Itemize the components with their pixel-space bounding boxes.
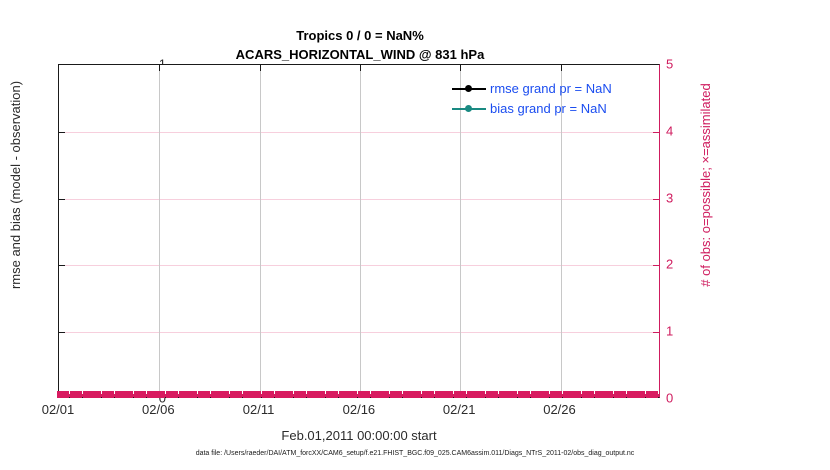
obs-count-marker bbox=[166, 391, 172, 398]
obs-count-marker bbox=[134, 391, 140, 398]
obs-count-marker bbox=[575, 391, 581, 398]
data-file-footer: data file: /Users/raeder/DAI/ATM_forcXX/… bbox=[0, 450, 830, 457]
obs-count-marker bbox=[633, 391, 639, 398]
obs-count-marker bbox=[127, 391, 133, 398]
obs-count-marker bbox=[505, 391, 511, 398]
obs-count-marker bbox=[563, 391, 569, 398]
legend-label-bias: bias grand pr = NaN bbox=[490, 101, 607, 116]
x-tick-label-0: 02/01 bbox=[42, 402, 75, 417]
y-tick-label-right-5: 5 bbox=[666, 57, 673, 72]
gridline-v-02-06 bbox=[159, 65, 160, 397]
tick-top-02-06 bbox=[159, 65, 160, 71]
gridline-v-02-16 bbox=[360, 65, 361, 397]
obs-count-marker bbox=[230, 391, 236, 398]
obs-count-marker bbox=[409, 391, 415, 398]
obs-count-marker bbox=[89, 391, 95, 398]
obs-count-marker bbox=[249, 391, 255, 398]
tick-top-02-11 bbox=[260, 65, 261, 71]
obs-count-marker bbox=[83, 391, 89, 398]
x-tick-label-4: 02/21 bbox=[443, 402, 476, 417]
obs-count-marker bbox=[351, 391, 357, 398]
obs-count-marker bbox=[435, 391, 441, 398]
obs-count-marker bbox=[454, 391, 460, 398]
obs-count-marker bbox=[396, 391, 402, 398]
obs-count-marker bbox=[390, 391, 396, 398]
obs-count-marker bbox=[95, 391, 101, 398]
x-axis-label: Feb.01,2011 00:00:00 start bbox=[58, 428, 660, 443]
chart-title-line-1: Tropics 0 / 0 = NaN% bbox=[60, 26, 660, 45]
legend-marker-bias-icon bbox=[452, 103, 486, 114]
obs-count-marker bbox=[211, 391, 217, 398]
obs-count-marker bbox=[428, 391, 434, 398]
x-tick-label-1: 02/06 bbox=[142, 402, 175, 417]
obs-count-marker bbox=[185, 391, 191, 398]
tick-top-02-21 bbox=[460, 65, 461, 71]
y-tick-label-right-3: 3 bbox=[666, 190, 673, 205]
obs-count-marker bbox=[121, 391, 127, 398]
obs-count-marker bbox=[607, 391, 613, 398]
obs-count-marker bbox=[313, 391, 319, 398]
obs-count-marker bbox=[486, 391, 492, 398]
x-tick-label-2: 02/11 bbox=[243, 402, 275, 417]
x-tick-label-5: 02/26 bbox=[543, 402, 576, 417]
obs-count-marker bbox=[473, 391, 479, 398]
obs-count-marker bbox=[364, 391, 370, 398]
obs-count-marker bbox=[518, 391, 524, 398]
chart-title: Tropics 0 / 0 = NaN% ACARS_HORIZONTAL_WI… bbox=[60, 26, 660, 64]
legend-entry-bias[interactable]: bias grand pr = NaN bbox=[452, 100, 612, 117]
obs-count-marker bbox=[511, 391, 517, 398]
obs-count-marker bbox=[492, 391, 498, 398]
obs-count-marker bbox=[403, 391, 409, 398]
obs-count-marker bbox=[371, 391, 377, 398]
obs-count-marker bbox=[620, 391, 626, 398]
obs-count-marker bbox=[588, 391, 594, 398]
legend-entry-rmse[interactable]: rmse grand pr = NaN bbox=[452, 80, 612, 97]
obs-count-marker bbox=[115, 391, 121, 398]
obs-count-marker bbox=[262, 391, 268, 398]
obs-count-marker bbox=[281, 391, 287, 398]
obs-count-marker bbox=[57, 391, 63, 398]
obs-count-marker bbox=[383, 391, 389, 398]
obs-count-marker bbox=[531, 391, 537, 398]
tick-left-0.8 bbox=[59, 132, 65, 133]
y-axis-left-label: rmse and bias (model - observation) bbox=[6, 35, 26, 335]
obs-count-marker bbox=[499, 391, 505, 398]
obs-count-marker bbox=[287, 391, 293, 398]
obs-count-marker bbox=[582, 391, 588, 398]
obs-count-marker bbox=[147, 391, 153, 398]
tick-top-02-26 bbox=[561, 65, 562, 71]
obs-count-marker bbox=[172, 391, 178, 398]
obs-count-marker bbox=[191, 391, 197, 398]
chart-title-line-2: ACARS_HORIZONTAL_WIND @ 831 hPa bbox=[60, 45, 660, 64]
obs-count-marker bbox=[595, 391, 601, 398]
obs-count-marker bbox=[179, 391, 185, 398]
obs-count-marker bbox=[339, 391, 345, 398]
obs-count-marker bbox=[204, 391, 210, 398]
tick-bottom-02-06 bbox=[159, 391, 160, 397]
tick-left-0.2 bbox=[59, 332, 65, 333]
tick-left-0.4 bbox=[59, 265, 65, 266]
obs-count-marker bbox=[140, 391, 146, 398]
obs-count-marker bbox=[537, 391, 543, 398]
obs-count-marker bbox=[153, 391, 159, 398]
legend: rmse grand pr = NaN bias grand pr = NaN bbox=[452, 80, 612, 117]
y-axis-right-label: # of obs: o=possible; ×=assimilated bbox=[696, 35, 716, 335]
obs-count-marker bbox=[627, 391, 633, 398]
obs-count-marker bbox=[300, 391, 306, 398]
obs-count-marker bbox=[614, 391, 620, 398]
obs-count-marker bbox=[543, 391, 549, 398]
figure-canvas: Tropics 0 / 0 = NaN% ACARS_HORIZONTAL_WI… bbox=[0, 0, 830, 470]
x-tick-label-3: 02/16 bbox=[343, 402, 376, 417]
tick-right-3 bbox=[653, 199, 659, 200]
obs-count-marker bbox=[639, 391, 645, 398]
obs-count-marker bbox=[236, 391, 242, 398]
obs-count-marker bbox=[467, 391, 473, 398]
obs-count-marker bbox=[479, 391, 485, 398]
obs-count-marker bbox=[569, 391, 575, 398]
obs-count-marker bbox=[332, 391, 338, 398]
obs-count-marker bbox=[223, 391, 229, 398]
obs-count-marker bbox=[102, 391, 108, 398]
obs-count-marker bbox=[268, 391, 274, 398]
obs-count-marker bbox=[345, 391, 351, 398]
tick-bottom-02-21 bbox=[460, 391, 461, 397]
legend-label-rmse: rmse grand pr = NaN bbox=[490, 81, 612, 96]
obs-count-marker bbox=[108, 391, 114, 398]
obs-count-marker bbox=[319, 391, 325, 398]
tick-right-2 bbox=[653, 265, 659, 266]
obs-count-marker bbox=[652, 391, 658, 398]
y-tick-label-right-2: 2 bbox=[666, 257, 673, 272]
obs-count-marker bbox=[198, 391, 204, 398]
tick-right-1 bbox=[653, 332, 659, 333]
obs-count-marker bbox=[422, 391, 428, 398]
tick-right-4 bbox=[653, 132, 659, 133]
obs-count-marker bbox=[550, 391, 556, 398]
tick-left-0.6 bbox=[59, 199, 65, 200]
obs-count-marker bbox=[646, 391, 652, 398]
obs-count-marker bbox=[524, 391, 530, 398]
obs-count-marker bbox=[307, 391, 313, 398]
obs-count-marker bbox=[377, 391, 383, 398]
gridline-v-02-11 bbox=[260, 65, 261, 397]
y-tick-label-right-1: 1 bbox=[666, 324, 673, 339]
tick-bottom-02-26 bbox=[561, 391, 562, 397]
y-tick-label-right-0: 0 bbox=[666, 391, 673, 406]
obs-count-marker bbox=[415, 391, 421, 398]
obs-count-marker bbox=[601, 391, 607, 398]
obs-count-marker bbox=[294, 391, 300, 398]
obs-count-marker bbox=[275, 391, 281, 398]
legend-marker-rmse-icon bbox=[452, 83, 486, 94]
obs-count-marker bbox=[76, 391, 82, 398]
obs-count-marker bbox=[63, 391, 69, 398]
obs-count-marker bbox=[447, 391, 453, 398]
tick-bottom-02-11 bbox=[260, 391, 261, 397]
obs-count-marker bbox=[243, 391, 249, 398]
y-tick-label-right-4: 4 bbox=[666, 123, 673, 138]
tick-top-02-16 bbox=[360, 65, 361, 71]
obs-count-marker bbox=[217, 391, 223, 398]
tick-bottom-02-16 bbox=[360, 391, 361, 397]
obs-count-marker bbox=[441, 391, 447, 398]
obs-count-marker bbox=[326, 391, 332, 398]
obs-count-marker bbox=[70, 391, 76, 398]
